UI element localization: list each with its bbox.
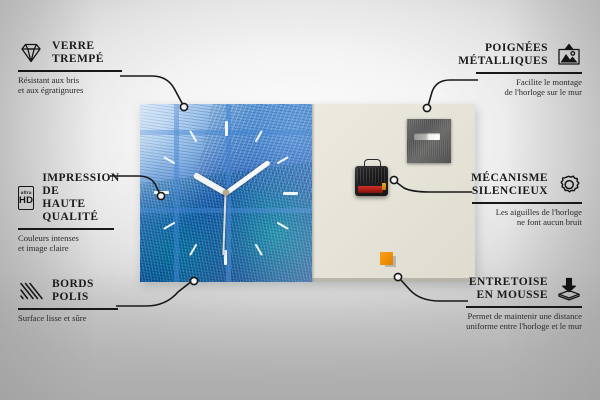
feature-underline: [18, 70, 122, 72]
clock-tick: [226, 192, 298, 194]
back-panel-bottom-edge: [312, 278, 475, 282]
gear-icon: [556, 173, 582, 197]
feature-underline: [466, 306, 582, 308]
feature-title: VERRE TREMPÉ: [52, 40, 104, 66]
arrow-onto-pad-icon: [556, 277, 582, 301]
feature-title: BORDS POLIS: [52, 278, 94, 304]
feature-underline: [476, 72, 582, 74]
ultra-hd-badge-icon: ultra HD: [18, 186, 34, 210]
hanger-keyhole-slot: [414, 133, 440, 140]
feature-underline: [18, 228, 114, 230]
feature-heading: BORDS POLIS: [18, 278, 118, 304]
feature-description: Permet de maintenir une distance uniform…: [466, 311, 582, 332]
diagonal-lines-icon: [18, 280, 44, 302]
clock-movement: [355, 166, 388, 196]
clock-tick: [154, 192, 226, 194]
feature-description: Les aiguilles de l'horloge ne font aucun…: [472, 207, 582, 228]
feature-title: IMPRESSION DE HAUTE QUALITÉ: [42, 172, 119, 224]
battery-terminal: [382, 183, 386, 190]
feature-bords-polis: BORDS POLIS Surface lisse et sûre: [18, 278, 118, 323]
clock-tick: [225, 121, 227, 193]
infographic-canvas: VERRE TREMPÉ Résistant aux bris et aux é…: [0, 0, 600, 400]
feature-heading: MÉCANISME SILENCIEUX: [472, 172, 582, 198]
feature-title: MÉCANISME SILENCIEUX: [471, 172, 548, 198]
foam-spacer: [380, 252, 393, 265]
feature-heading: POIGNÉES MÉTALLIQUES: [476, 42, 582, 68]
feature-heading: VERRE TREMPÉ: [18, 40, 122, 66]
feature-description: Surface lisse et sûre: [18, 313, 118, 324]
back-panel-edge: [312, 104, 315, 282]
battery: [358, 186, 383, 193]
diamond-icon: [18, 42, 44, 64]
feature-title: POIGNÉES MÉTALLIQUES: [458, 42, 548, 68]
product-image: [140, 104, 475, 282]
feature-heading: ENTRETOISE EN MOUSSE: [466, 276, 582, 302]
clock-center-cap: [223, 190, 229, 196]
feature-underline: [472, 202, 582, 204]
hanger-brushed-texture: [407, 119, 451, 163]
feature-poignees-metalliques: POIGNÉES MÉTALLIQUES Facilite le montage…: [476, 42, 582, 98]
feature-impression-haute-qualite: ultra HD IMPRESSION DE HAUTE QUALITÉ Cou…: [18, 172, 114, 254]
feature-underline: [18, 308, 118, 310]
feature-heading: ultra HD IMPRESSION DE HAUTE QUALITÉ: [18, 172, 114, 224]
feature-verre-trempe: VERRE TREMPÉ Résistant aux bris et aux é…: [18, 40, 122, 96]
feature-description: Résistant aux bris et aux égratignures: [18, 75, 122, 96]
movement-ridges: [357, 168, 386, 183]
metal-hanger-plate: [407, 119, 451, 163]
feature-description: Couleurs intenses et image claire: [18, 233, 114, 254]
picture-frame-hook-icon: [556, 43, 582, 67]
feature-mecanisme-silencieux: MÉCANISME SILENCIEUX Les aiguilles de l'…: [472, 172, 582, 228]
feature-entretoise-en-mousse: ENTRETOISE EN MOUSSE Permet de maintenir…: [466, 276, 582, 332]
feature-title: ENTRETOISE EN MOUSSE: [469, 276, 548, 302]
clock-face-panel: [140, 104, 312, 282]
feature-description: Facilite le montage de l'horloge sur le …: [476, 77, 582, 98]
clock-back-panel: [312, 104, 475, 282]
